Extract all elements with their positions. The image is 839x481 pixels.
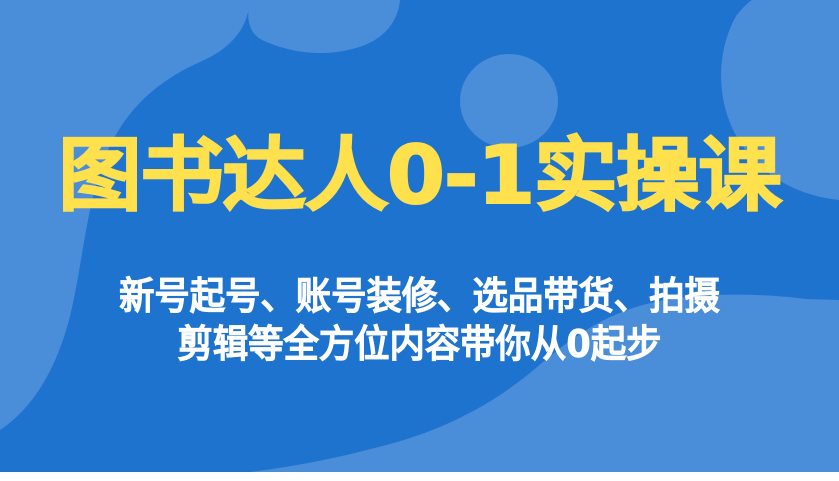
- banner-subtitle-line-1: 新号起号、账号装修、选品带货、拍摄: [29, 272, 809, 320]
- course-promo-banner: 图书达人0-1实操课 新号起号、账号装修、选品带货、拍摄 剪辑等全方位内容带你从…: [0, 0, 839, 481]
- banner-content: 图书达人0-1实操课 新号起号、账号装修、选品带货、拍摄 剪辑等全方位内容带你从…: [0, 0, 839, 481]
- banner-subtitle: 新号起号、账号装修、选品带货、拍摄 剪辑等全方位内容带你从0起步: [0, 272, 839, 368]
- banner-title: 图书达人0-1实操课: [0, 126, 839, 226]
- banner-subtitle-line-2: 剪辑等全方位内容带你从0起步: [29, 320, 809, 368]
